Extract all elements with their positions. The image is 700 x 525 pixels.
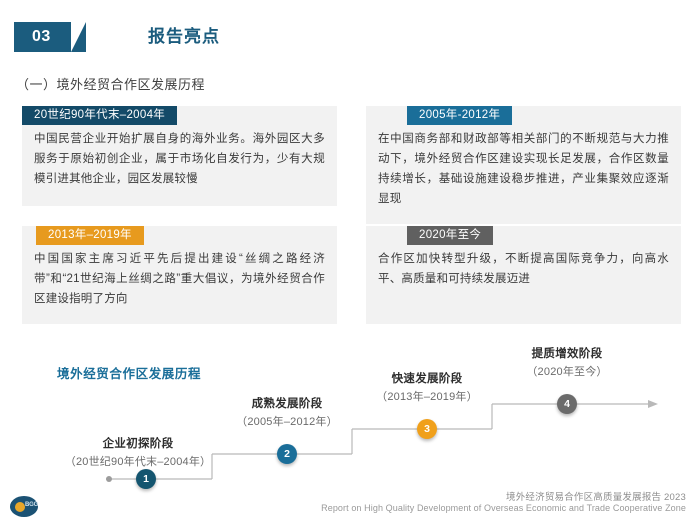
slide-canvas: 03 报告亮点 （一）境外经贸合作区发展历程 20世纪90年代末–2004年 中… (0, 0, 700, 525)
phase-card-1: 20世纪90年代末–2004年 中国民营企业开始扩展自身的海外业务。海外园区大多… (22, 106, 337, 206)
footer-title-en: Report on High Quality Development of Ov… (321, 503, 686, 513)
timeline-stage-3-name: 快速发展阶段 (347, 370, 507, 386)
timeline-stage-1-name: 企业初探阶段 (58, 435, 218, 451)
phase-card-2-label: 2005年-2012年 (407, 106, 512, 125)
phase-card-3-text: 中国国家主席习近平先后提出建设“丝绸之路经济带”和“21世纪海上丝绸之路”重大倡… (22, 249, 337, 309)
timeline-marker-2[interactable]: 2 (277, 444, 297, 464)
phase-card-2: 2005年-2012年 在中国商务部和财政部等相关部门的不断规范与大力推动下，境… (366, 106, 681, 224)
phase-card-3-label: 2013年–2019年 (36, 226, 144, 245)
phase-card-2-text: 在中国商务部和财政部等相关部门的不断规范与大力推动下，境外经贸合作区建设实现长足… (366, 129, 681, 209)
timeline-marker-4[interactable]: 4 (557, 394, 577, 414)
phase-card-3: 2013年–2019年 中国国家主席习近平先后提出建设“丝绸之路经济带”和“21… (22, 226, 337, 324)
section-number-badge: 03 (14, 22, 71, 52)
timeline-stage-1-range: （20世纪90年代末–2004年） (38, 453, 238, 469)
phase-card-4: 2020年至今 合作区加快转型升级，不断提高国际竞争力，向高水平、高质量和可持续… (366, 226, 681, 324)
timeline-stage-4-range: （2020年至今） (487, 363, 647, 379)
phase-card-4-label: 2020年至今 (407, 226, 493, 245)
organization-logo: BGG (10, 496, 38, 518)
logo-text: BGG (25, 502, 38, 508)
phase-card-4-text: 合作区加快转型升级，不断提高国际竞争力，向高水平、高质量和可持续发展迈进 (366, 249, 681, 289)
phase-card-1-text: 中国民营企业开始扩展自身的海外业务。海外园区大多服务于原始初创企业，属于市场化自… (22, 129, 337, 189)
timeline-stage-2-range: （2005年–2012年） (197, 413, 377, 429)
section-subtitle: （一）境外经贸合作区发展历程 (16, 74, 205, 93)
logo-sun-icon (15, 502, 25, 512)
phase-card-1-label: 20世纪90年代末–2004年 (22, 106, 177, 125)
timeline-stage-3-range: （2013年–2019年） (342, 388, 512, 404)
slide-header: 03 报告亮点 (14, 22, 71, 52)
timeline-marker-3[interactable]: 3 (417, 419, 437, 439)
timeline-diagram: 境外经贸合作区发展历程 企业初探阶段 （20世纪90年代末–2004年） 1 (0, 340, 700, 495)
footer-title-cn: 境外经济贸易合作区高质量发展报告 2023 (506, 489, 686, 503)
timeline-stage-4-name: 提质增效阶段 (487, 345, 647, 361)
page-title: 报告亮点 (148, 22, 220, 52)
timeline-marker-1[interactable]: 1 (136, 469, 156, 489)
